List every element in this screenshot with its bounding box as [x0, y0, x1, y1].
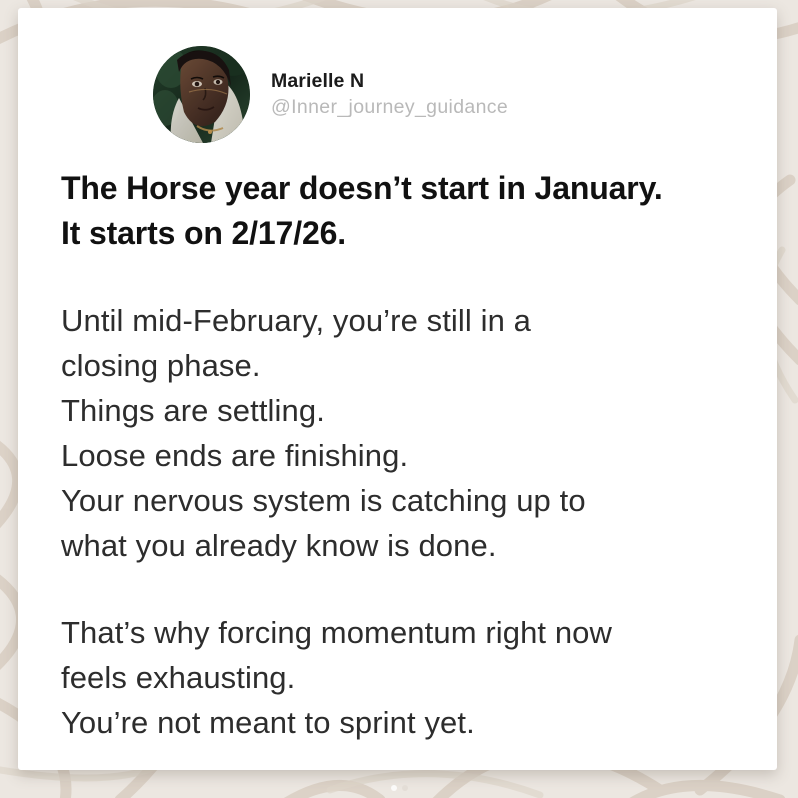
headline-body-spacer — [61, 256, 761, 299]
pagination-dot-2[interactable] — [402, 785, 408, 791]
post-body: The Horse year doesn’t start in January.… — [61, 166, 761, 746]
author-header: Marielle N @Inner_journey_guidance — [153, 46, 508, 143]
post-paragraph-2: That’s why forcing momentum right now fe… — [61, 611, 761, 746]
pagination-dots[interactable] — [0, 785, 798, 791]
post-card: Marielle N @Inner_journey_guidance The H… — [18, 8, 777, 770]
post-headline: The Horse year doesn’t start in January.… — [61, 166, 761, 256]
author-meta: Marielle N @Inner_journey_guidance — [271, 72, 508, 118]
avatar[interactable] — [153, 46, 250, 143]
author-handle[interactable]: @Inner_journey_guidance — [271, 98, 508, 118]
post-paragraph-1: Until mid-February, you’re still in a cl… — [61, 299, 761, 569]
paragraph-spacer — [61, 569, 761, 611]
author-name[interactable]: Marielle N — [271, 72, 508, 92]
pagination-dot-1[interactable] — [391, 785, 397, 791]
